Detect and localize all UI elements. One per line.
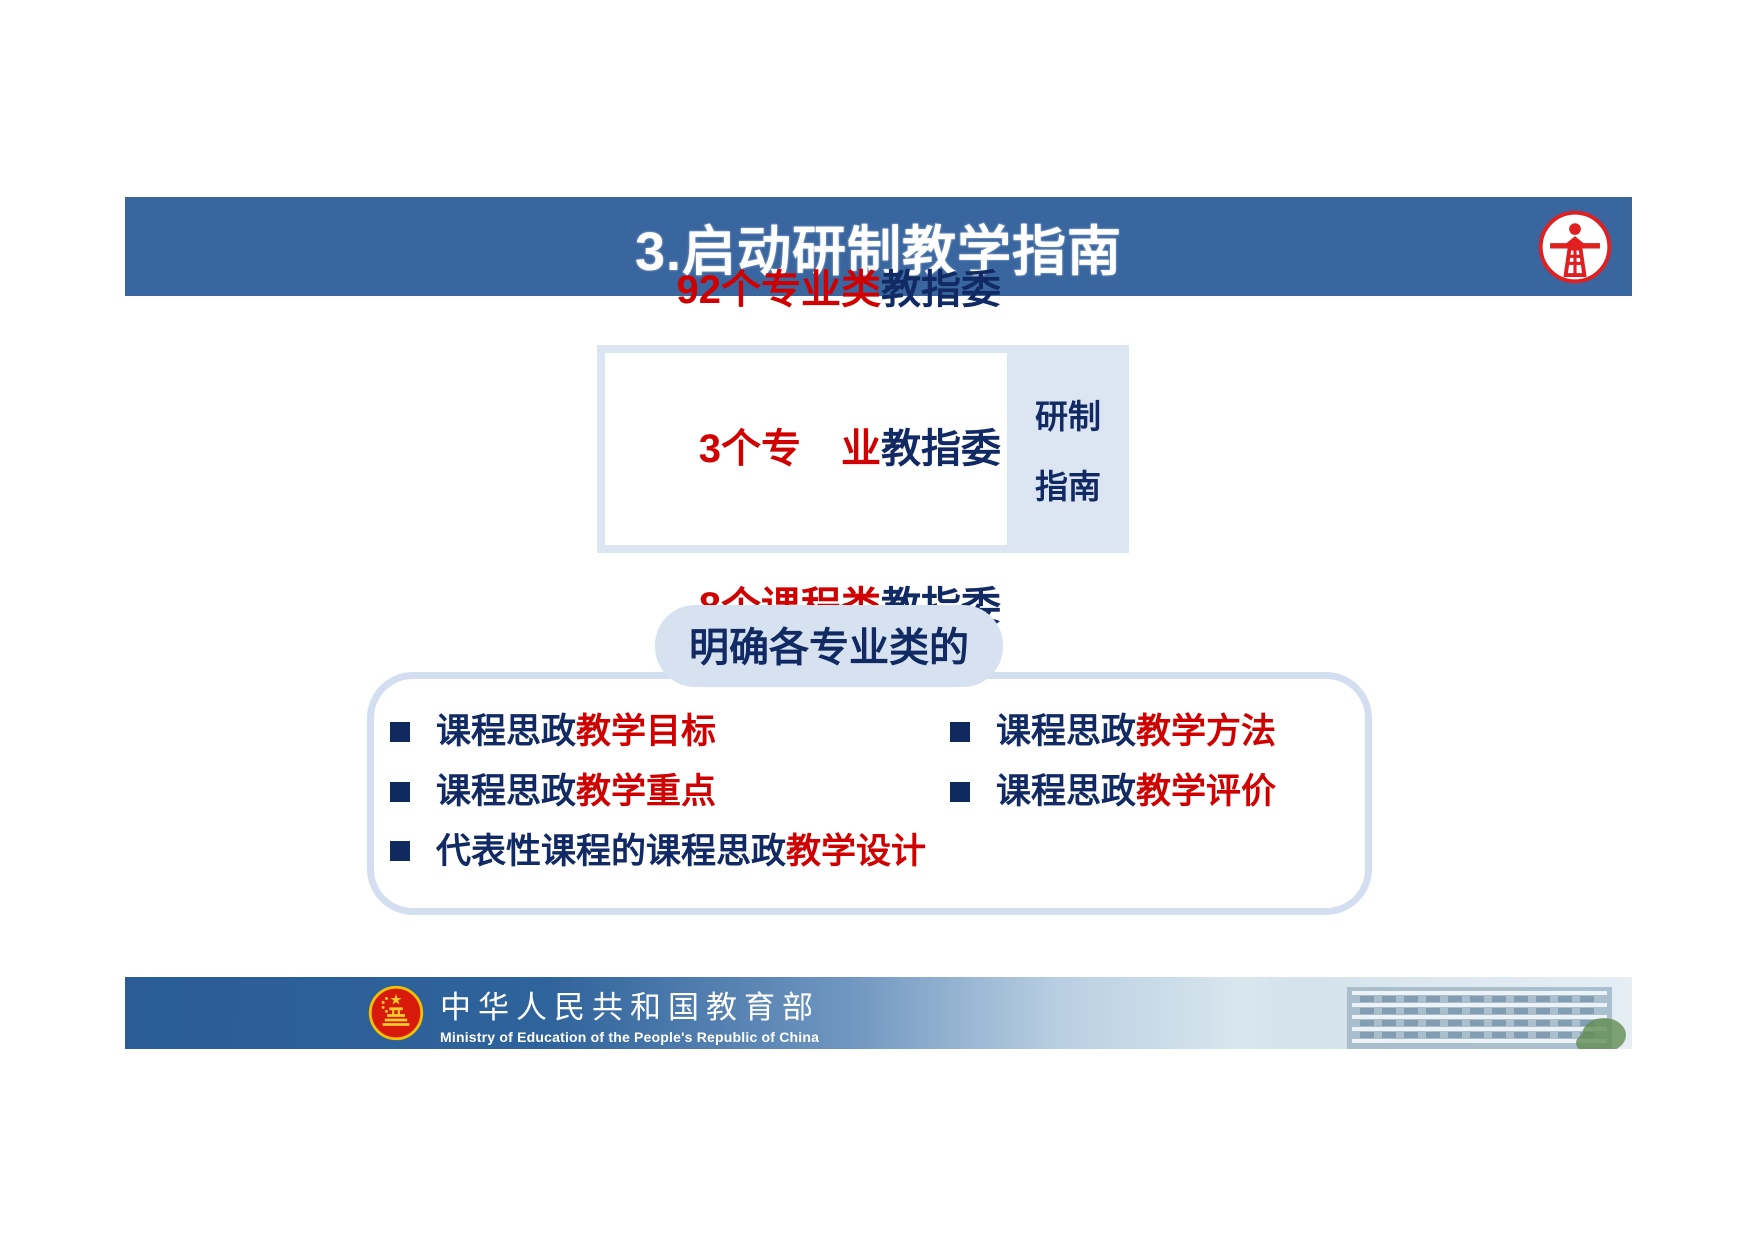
- square-bullet-icon: [390, 782, 410, 802]
- list-item-text: 课程思政教学评价: [996, 770, 1276, 814]
- list-item-text-navy: 代表性课程的课程思政: [436, 832, 786, 871]
- square-bullet-icon: [950, 722, 970, 742]
- list-item: 代表性课程的课程思政教学设计: [390, 830, 1350, 874]
- list-item-text-navy: 课程思政: [996, 712, 1136, 751]
- stat-line-1: 92个专业类教指委: [588, 211, 1001, 369]
- list-item-text-navy: 课程思政: [436, 712, 576, 751]
- square-bullet-icon: [950, 782, 970, 802]
- list-item-text: 代表性课程的课程思政教学设计: [436, 830, 926, 874]
- list-item-text-red: 教学重点: [576, 772, 716, 811]
- bullet-row: 代表性课程的课程思政教学设计: [390, 830, 1350, 874]
- stats-side-label-line2: 指南: [1035, 460, 1101, 508]
- list-item: 课程思政教学目标: [390, 710, 950, 754]
- national-emblem-icon: [368, 985, 424, 1041]
- square-bullet-icon: [390, 722, 410, 742]
- bullet-row: 课程思政教学目标 课程思政教学方法: [390, 710, 1350, 754]
- bullet-row: 课程思政教学重点 课程思政教学评价: [390, 770, 1350, 814]
- list-item-text-red: 教学评价: [1136, 772, 1276, 811]
- list-item-text-red: 教学目标: [576, 712, 716, 751]
- stats-card: 92个专业类教指委 3个专 业教指委 8个课程类教指委: [605, 353, 1007, 545]
- list-item-text: 课程思政教学目标: [436, 710, 716, 754]
- list-item-text-red: 教学设计: [786, 832, 926, 871]
- stat-line-1-rest: 教指委: [881, 268, 1001, 312]
- footer-title-cn: 中华人民共和国教育部: [440, 982, 820, 1027]
- footer-title-en: Ministry of Education of the People's Re…: [440, 1029, 820, 1045]
- stat-line-2: 3个专 业教指委: [610, 370, 1001, 528]
- slide-canvas: 3.启动研制教学指南 92个专业类教指委 3个专 业教指委: [0, 0, 1755, 1241]
- list-item-text: 课程思政教学方法: [996, 710, 1276, 754]
- footer-text-block: 中华人民共和国教育部 Ministry of Education of the …: [440, 982, 820, 1045]
- footer-bar: 中华人民共和国教育部 Ministry of Education of the …: [125, 977, 1632, 1049]
- list-item: 课程思政教学重点: [390, 770, 950, 814]
- stat-line-2-highlight: 3个专 业: [699, 427, 881, 471]
- list-item-text: 课程思政教学重点: [436, 770, 716, 814]
- red-circular-emblem-icon: [1536, 208, 1614, 286]
- stat-line-2-rest: 教指委: [881, 427, 1001, 471]
- list-item-text-red: 教学方法: [1136, 712, 1276, 751]
- section-heading-pill: 明确各专业类的: [655, 605, 1003, 687]
- stats-side-label: 研制 指南: [1007, 345, 1129, 553]
- bullets-list: 课程思政教学目标 课程思政教学方法 课程思政教学重点 课程思政教学评价: [390, 710, 1350, 889]
- section-heading-label: 明确各专业类的: [689, 615, 969, 673]
- list-item-text-navy: 课程思政: [996, 772, 1136, 811]
- square-bullet-icon: [390, 841, 410, 861]
- stat-line-1-highlight: 92个专业类: [677, 268, 882, 312]
- stats-side-label-line1: 研制: [1035, 390, 1101, 438]
- list-item: 课程思政教学方法: [950, 710, 1350, 754]
- list-item-text-navy: 课程思政: [436, 772, 576, 811]
- stats-panel: 92个专业类教指委 3个专 业教指委 8个课程类教指委 研制 指南: [597, 345, 1129, 553]
- list-item: 课程思政教学评价: [950, 770, 1350, 814]
- building-photo-icon: [1252, 977, 1632, 1049]
